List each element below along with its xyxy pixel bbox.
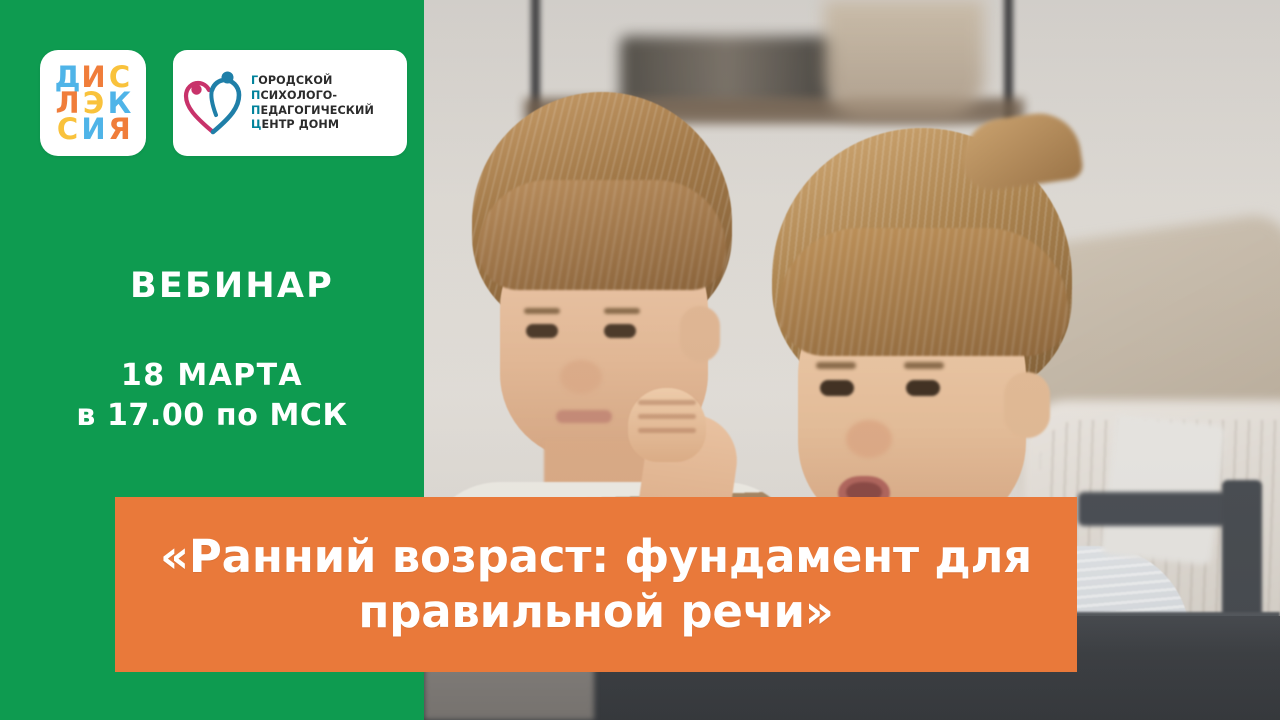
gppc-logo[interactable]: ГОРОДСКОЙПСИХОЛОГО-ПЕДАГОГИЧЕСКИЙЦЕНТР Д… xyxy=(173,50,407,156)
boy-a-brow-right xyxy=(604,308,640,314)
boy-a-knuckle-1 xyxy=(638,400,696,405)
boy-b-brow-left xyxy=(816,362,856,369)
photo-background-vase xyxy=(824,0,984,118)
dyslexia-letter-8: И xyxy=(81,115,104,144)
boy-a-mouth xyxy=(556,410,612,423)
boy-a-eye-right xyxy=(604,324,636,338)
gppc-line-2-rest: СИХОЛОГО- xyxy=(260,89,337,102)
logo-row: Д И С Л Э К С И Я xyxy=(40,50,407,156)
webinar-title-banner: «Ранний возраст: фундамент для правильно… xyxy=(115,497,1077,672)
gppc-line-4: ЦЕНТР ДОНМ xyxy=(251,118,374,132)
dyslexia-logo-letter-grid: Д И С Л Э К С И Я xyxy=(54,64,132,142)
webinar-poster: Д И С Л Э К С И Я xyxy=(0,0,1280,720)
heart-people-icon xyxy=(183,69,243,137)
boy-b-eye-left xyxy=(820,380,854,396)
dyslexia-logo[interactable]: Д И С Л Э К С И Я xyxy=(40,50,146,156)
boy-b-nose xyxy=(846,420,892,458)
webinar-datetime: 18 МАРТА в 17.00 по МСК xyxy=(0,356,424,435)
gppc-line-2: ПСИХОЛОГО- xyxy=(251,89,374,103)
webinar-kicker: ВЕБИНАР xyxy=(130,266,334,306)
boy-b-fringe xyxy=(778,228,1068,356)
webinar-title: «Ранний возраст: фундамент для правильно… xyxy=(141,530,1051,640)
dyslexia-letter-7: С xyxy=(57,115,77,144)
boy-b-brow-right xyxy=(904,362,944,369)
gppc-line-4-initial: Ц xyxy=(251,118,261,131)
webinar-date: 18 МАРТА xyxy=(0,356,424,396)
gppc-line-3: ПЕДАГОГИЧЕСКИЙ xyxy=(251,104,374,118)
gppc-line-3-rest: ЕДАГОГИЧЕСКИЙ xyxy=(260,104,373,117)
gppc-line-4-rest: ЕНТР ДОНМ xyxy=(261,118,339,131)
boy-a-brow-left xyxy=(524,308,560,314)
gppc-line-1: ГОРОДСКОЙ xyxy=(251,74,374,88)
boy-b-eye-right xyxy=(906,380,940,396)
boy-a-ear xyxy=(680,306,720,362)
boy-b-ear xyxy=(1004,372,1050,438)
photo-chair-cushion xyxy=(1101,415,1225,566)
webinar-time: в 17.00 по МСК xyxy=(0,396,424,436)
gppc-line-1-rest: ОРОДСКОЙ xyxy=(258,74,332,87)
boy-a-nose xyxy=(560,360,602,394)
photo-chair-back-rail xyxy=(1078,492,1228,526)
boy-a-knuckle-2 xyxy=(638,414,696,419)
dyslexia-letter-9: Я xyxy=(108,115,129,144)
boy-a-knuckle-3 xyxy=(638,428,696,433)
boy-a-fringe xyxy=(478,180,726,290)
gppc-logo-text: ГОРОДСКОЙПСИХОЛОГО-ПЕДАГОГИЧЕСКИЙЦЕНТР Д… xyxy=(251,74,374,132)
boy-a-eye-left xyxy=(526,324,558,338)
